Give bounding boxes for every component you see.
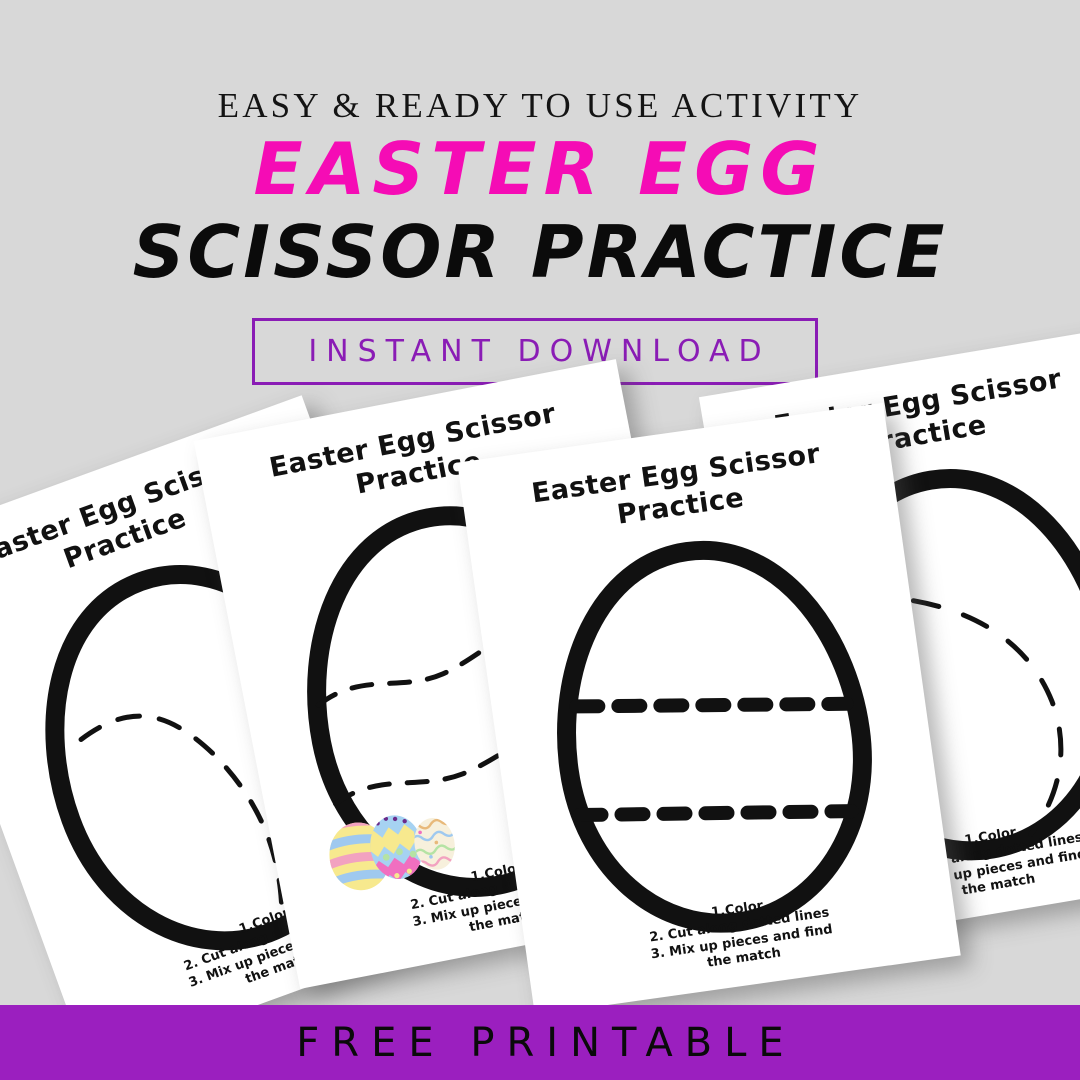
eyebrow-text: EASY & READY TO USE ACTIVITY [0,86,1080,126]
worksheet-preview-4[interactable]: Easter Egg Scissor Practice 1.Color 2. C… [457,403,960,1015]
page-title-line2: SCISSOR PRACTICE [0,216,1080,288]
poster-canvas: EASY & READY TO USE ACTIVITY EASTER EGG … [0,0,1080,1080]
cut-line-top-4 [576,669,846,741]
cut-line-bottom-4 [579,777,851,848]
free-printable-label: FREE PRINTABLE [284,1020,795,1066]
free-printable-banner: FREE PRINTABLE [0,1005,1080,1080]
page-title-line1: EASTER EGG [0,133,1080,205]
instant-download-label: INSTANT DOWNLOAD [299,334,770,369]
